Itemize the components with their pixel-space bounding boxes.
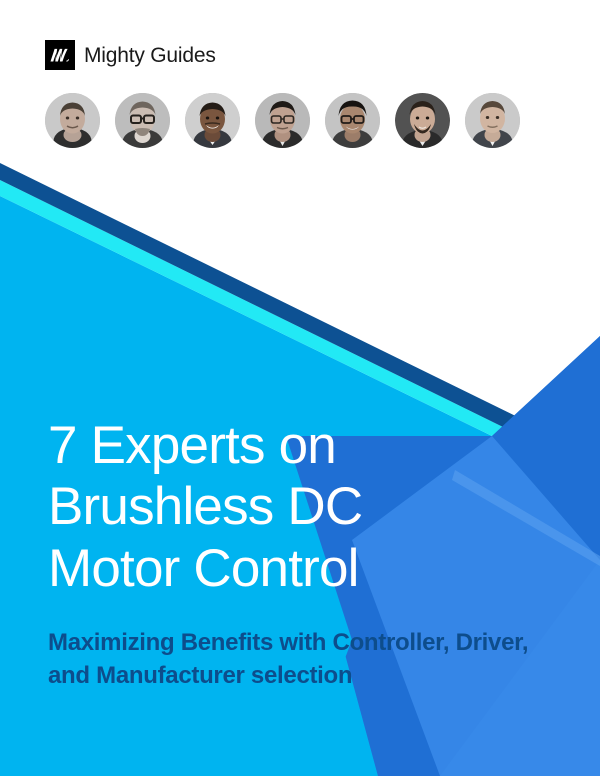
cover-title: 7 Experts on Brushless DC Motor Control: [48, 415, 448, 599]
mighty-guides-logo-icon: [45, 40, 75, 70]
cover-title-block: 7 Experts on Brushless DC Motor Control …: [48, 415, 568, 692]
contributor-avatar: [115, 93, 170, 148]
contributor-avatar: [395, 93, 450, 148]
ebook-cover-page: Mighty Guides: [0, 0, 600, 776]
brand-header: Mighty Guides: [45, 40, 216, 70]
contributor-avatar: [185, 93, 240, 148]
cover-subtitle: Maximizing Benefits with Controller, Dri…: [48, 627, 558, 692]
contributor-avatar: [325, 93, 380, 148]
contributor-avatar-row: [45, 93, 520, 148]
contributor-avatar: [45, 93, 100, 148]
contributor-avatar: [465, 93, 520, 148]
brand-wordmark: Mighty Guides: [84, 45, 216, 66]
contributor-avatar: [255, 93, 310, 148]
